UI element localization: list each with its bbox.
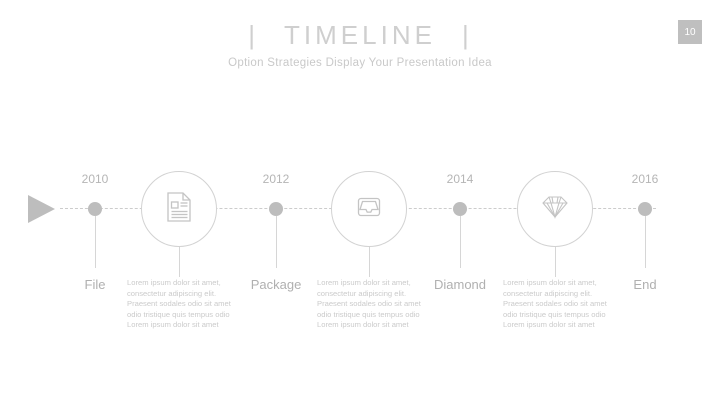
icon-stem bbox=[555, 247, 556, 277]
dot-marker[interactable] bbox=[638, 202, 652, 216]
dot-stem bbox=[645, 216, 646, 268]
icon-stem bbox=[179, 247, 180, 277]
dot-stem bbox=[276, 216, 277, 268]
dot-stem bbox=[460, 216, 461, 268]
dot-stem bbox=[95, 216, 96, 268]
dot-title-label: End bbox=[585, 277, 705, 292]
diamond-icon bbox=[539, 192, 571, 227]
dot-year-label: 2012 bbox=[231, 172, 321, 186]
timeline-arrow-icon bbox=[28, 195, 55, 223]
dot-year-label: 2010 bbox=[50, 172, 140, 186]
icon-circle[interactable] bbox=[141, 171, 217, 247]
document-icon bbox=[162, 190, 196, 229]
dot-year-label: 2014 bbox=[415, 172, 505, 186]
dot-marker[interactable] bbox=[453, 202, 467, 216]
inbox-tray-icon bbox=[353, 191, 385, 228]
icon-circle[interactable] bbox=[517, 171, 593, 247]
timeline: 2010 File Lorem ipsum dolor sit amet, bbox=[0, 0, 720, 405]
dot-marker[interactable] bbox=[88, 202, 102, 216]
icon-circle[interactable] bbox=[331, 171, 407, 247]
dot-year-label: 2016 bbox=[600, 172, 690, 186]
dot-marker[interactable] bbox=[269, 202, 283, 216]
dot-title-label: Diamond bbox=[400, 277, 520, 292]
icon-stem bbox=[369, 247, 370, 277]
